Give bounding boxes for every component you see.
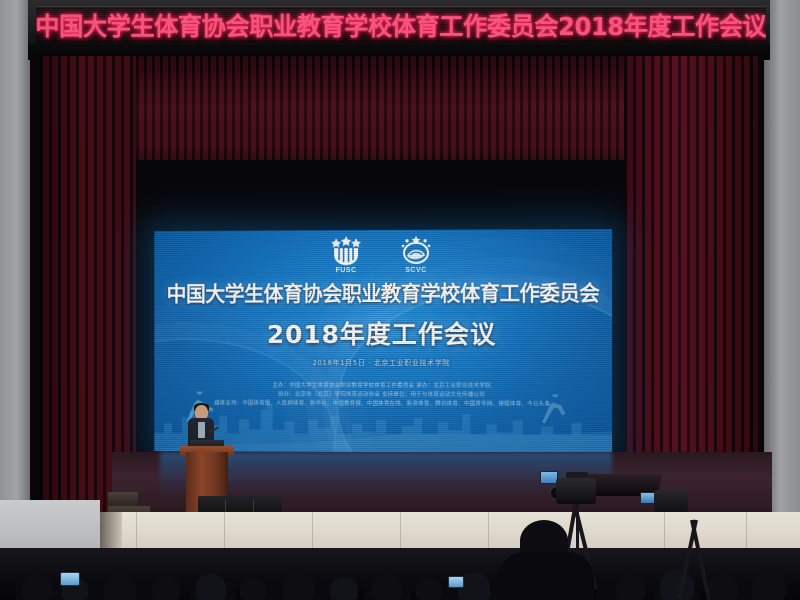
curtain-left <box>40 56 136 516</box>
audience-member <box>282 572 314 600</box>
audience-member <box>240 578 266 600</box>
slide-credits: 主办：中国大学生体育协会职业教育学校体育工作委员会 承办：北京工业职业技术学院 … <box>154 382 612 410</box>
hall-wall-left <box>0 0 30 520</box>
video-camera-tripod-left <box>556 478 596 504</box>
conference-photo-scene: 中国大学生体育协会职业教育学校体育工作委员会2018年度工作会议 <box>0 0 800 600</box>
smartphone-screen <box>60 572 80 586</box>
camera-operator-body <box>498 552 594 600</box>
audience-member <box>196 574 226 600</box>
slide-credit-line: 媒体支持：中国体育报、人民网体育、新华社、中国教育报、中国体育在线、新浪体育、腾… <box>154 399 612 409</box>
fusc-logo-block: FUSC <box>329 236 363 274</box>
audience-member <box>616 574 646 600</box>
audience-member <box>416 578 442 600</box>
audience-member <box>104 572 136 600</box>
audience-member <box>152 576 180 600</box>
slide-date-line: 2018年1月5日 · 北京工业职业技术学院 <box>154 358 612 368</box>
smartphone-screen <box>448 576 464 588</box>
overhead-led-banner-text: 中国大学生体育协会职业教育学校体育工作委员会2018年度工作会议 <box>36 7 766 43</box>
audience-member <box>372 574 402 600</box>
sports-committee-logo <box>399 236 433 266</box>
overhead-led-banner: 中国大学生体育协会职业教育学校体育工作委员会2018年度工作会议 <box>36 6 766 43</box>
fusc-logo <box>329 236 363 266</box>
speaker-shirt <box>198 422 205 438</box>
sports-committee-logo-block: SCVC <box>399 236 433 274</box>
audience-member <box>22 574 52 600</box>
hall-wall-right <box>764 0 800 520</box>
audience-member <box>708 574 738 600</box>
presentation-screen: FUSC SCVC 中国大学生体育协会职业教育学校体育工作委员会 2018年度工… <box>154 229 612 453</box>
slide-subtitle: 2018年度工作会议 <box>154 315 612 351</box>
audience-member <box>330 577 358 600</box>
audience-member <box>752 570 786 600</box>
video-camera-tripod-right <box>654 490 688 512</box>
screen-logo-row: FUSC SCVC <box>154 235 612 275</box>
fusc-logo-caption: FUSC <box>336 267 357 274</box>
sports-committee-logo-caption: SCVC <box>405 267 427 274</box>
slide-title: 中国大学生体育协会职业教育学校体育工作委员会 <box>163 277 602 308</box>
